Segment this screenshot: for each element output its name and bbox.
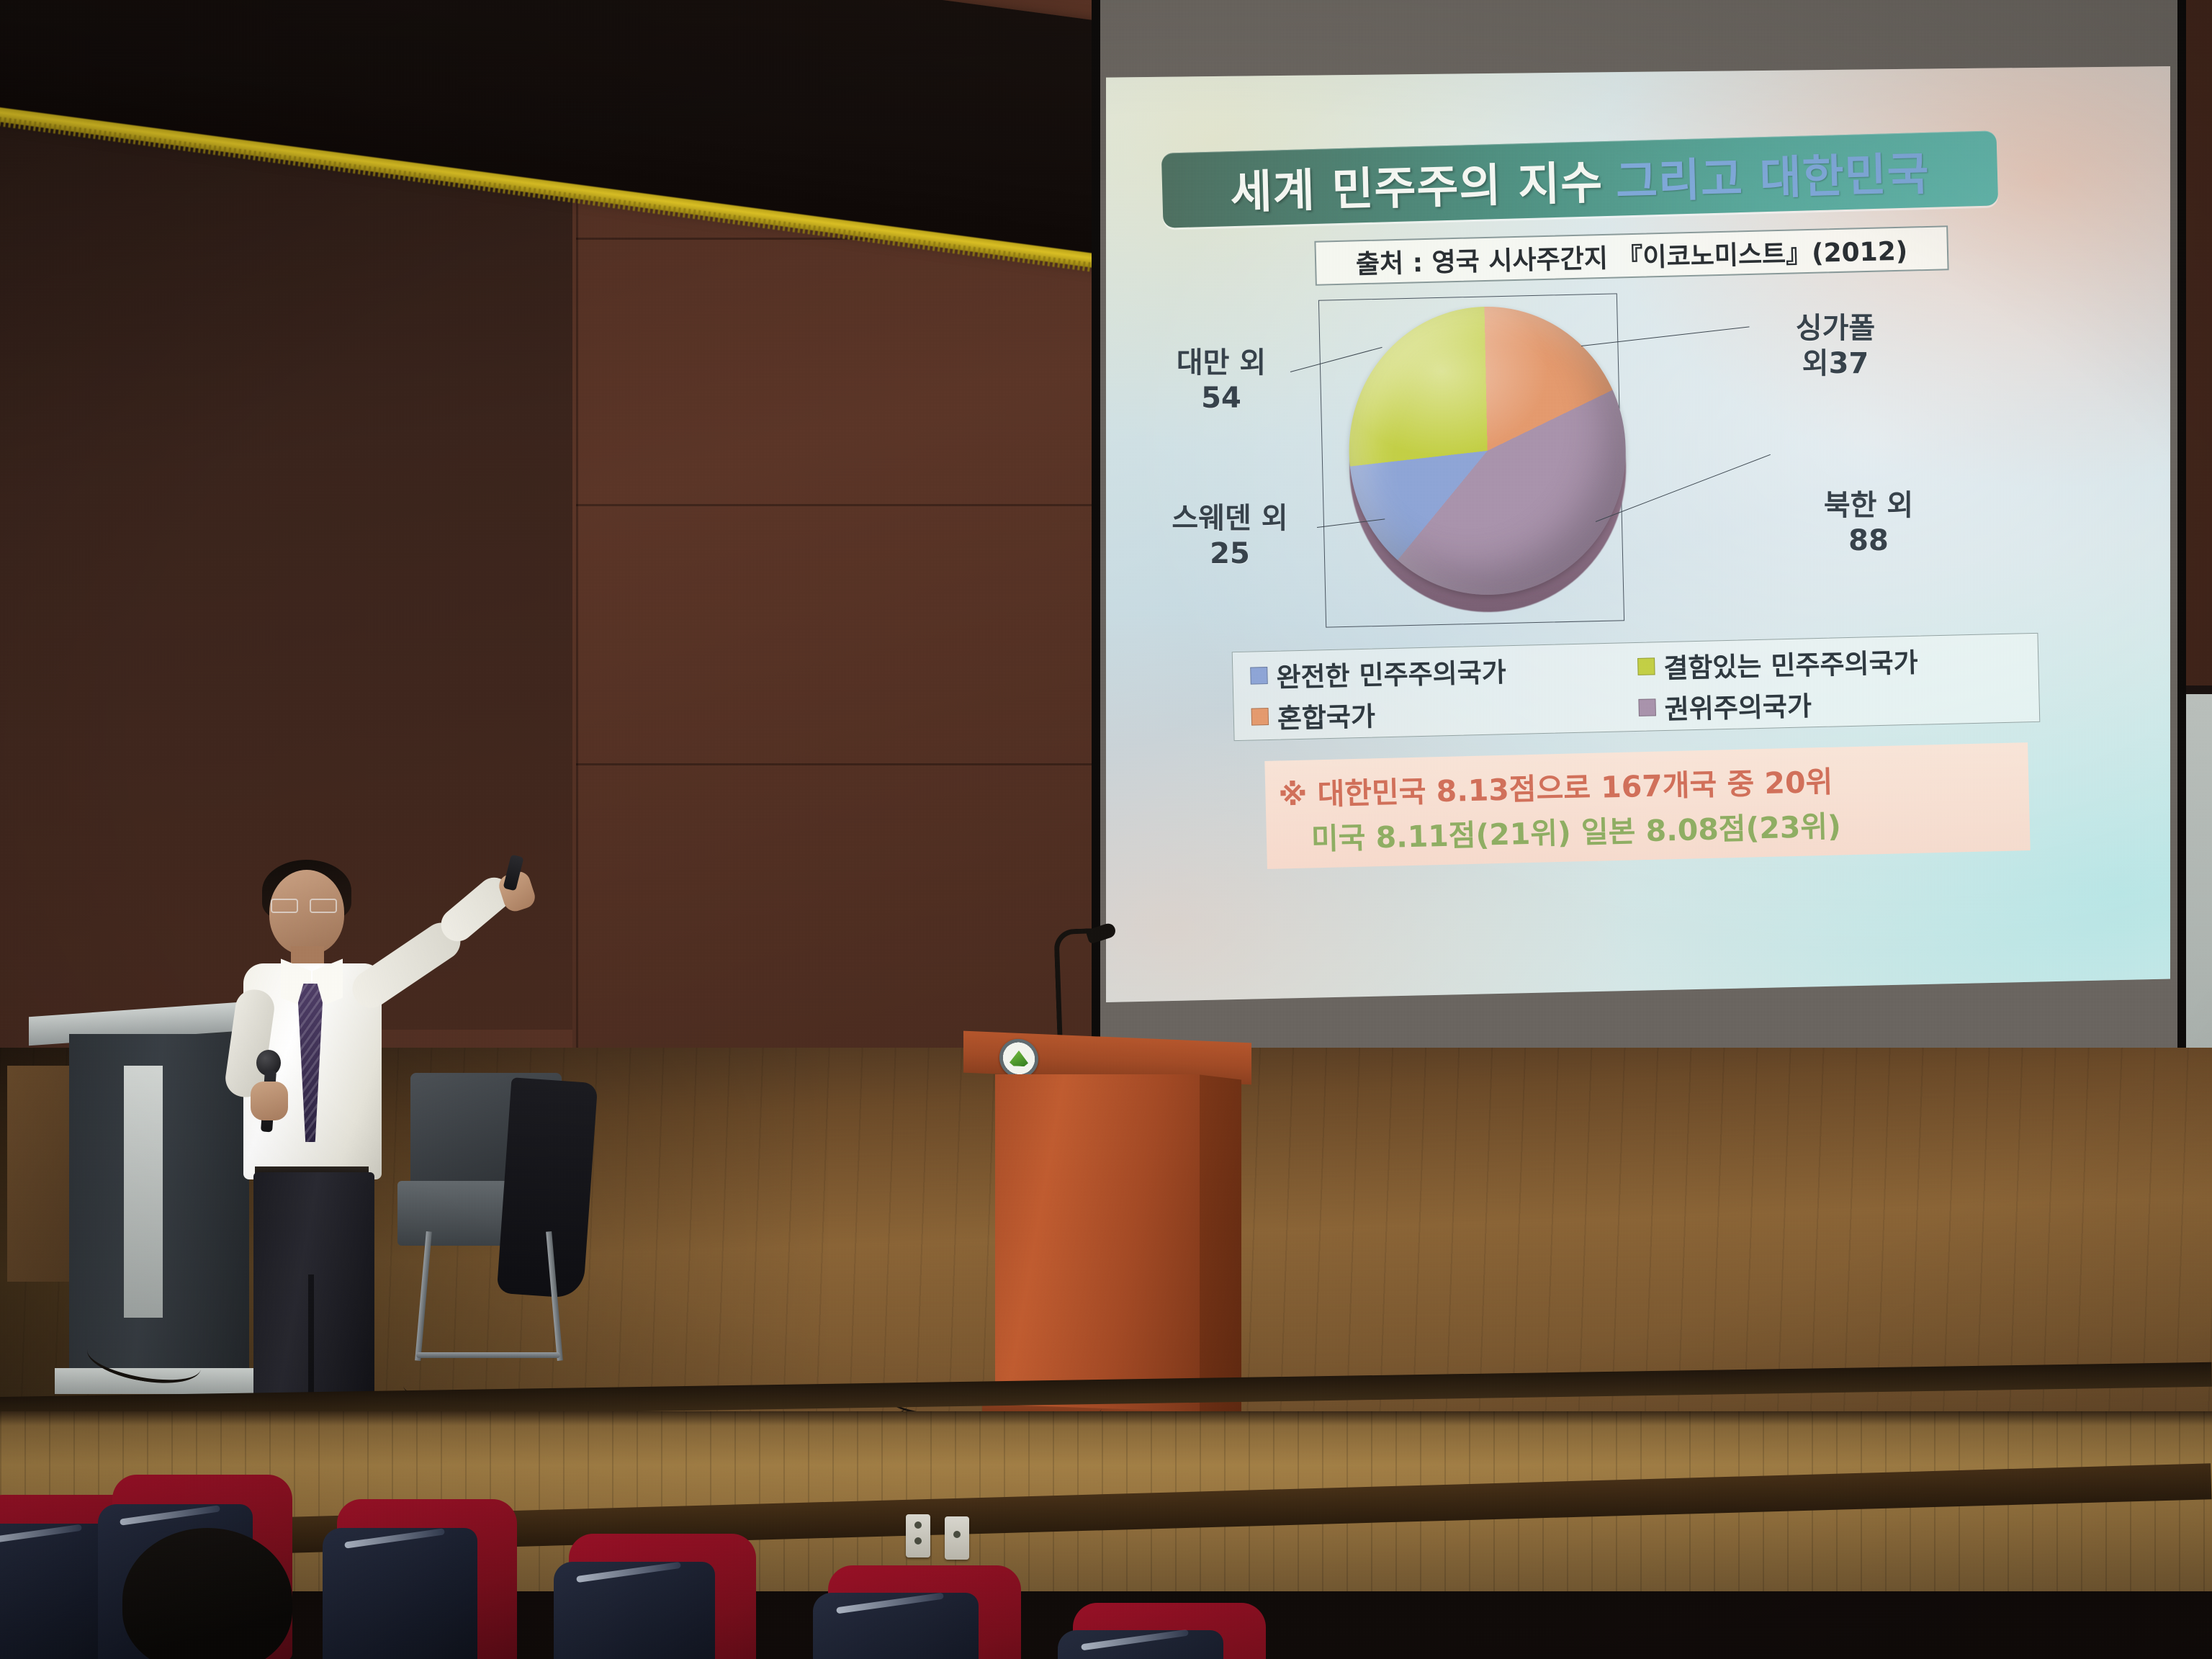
legend-label-full-democracy: 완전한 민주주의국가 [1276,650,1506,695]
trouser-seam [308,1274,314,1411]
auditorium-seat [569,1534,756,1659]
pie-chart [1340,292,1635,631]
callout-singapore-value: 외37 [1754,346,1917,382]
legend-label-hybrid: 혼합국가 [1277,694,1375,735]
wall-seam [576,504,1102,506]
legend-label-flawed-democracy: 결함있는 민주주의국가 [1663,640,1918,685]
legend-item-authoritarian: 권위주의국가 [1638,679,2026,727]
presenter-trousers [253,1172,374,1410]
callout-sweden: 스웨덴 외 25 [1141,501,1319,572]
legend-item-flawed-democracy: 결함있는 민주주의국가 [1637,638,2026,686]
legend-swatch-hybrid [1251,708,1269,726]
podium-body [995,1074,1202,1413]
callout-northkorea-value: 88 [1783,523,1954,559]
audience-seating [0,1469,1274,1659]
legend-label-authoritarian: 권위주의국가 [1664,684,1812,727]
podium-side [1200,1074,1241,1418]
callout-sweden-value: 25 [1141,536,1319,572]
slide-title-main: 세계 민주주의 지수 [1229,146,1604,222]
callout-daeman: 대만 외 54 [1149,346,1293,416]
legend-item-full-democracy: 완전한 민주주의국가 [1250,647,1638,695]
slide-source-box: 출처 : 영국 시사주간지 『이코노미스트』(2012) [1314,225,1948,285]
legend-swatch-full-democracy [1250,667,1268,685]
legend-item-hybrid: 혼합국가 [1251,688,1639,736]
callout-northkorea: 북한 외 88 [1783,488,1954,559]
chart-legend: 완전한 민주주의국가 결함있는 민주주의국가 혼합국가 권위주의국가 [1232,633,2041,741]
callout-sweden-name: 스웨덴 외 [1141,501,1319,536]
auditorium-seat [828,1565,1021,1659]
institution-emblem [999,1038,1038,1079]
auditorium-seat [337,1499,517,1659]
callout-singapore-name: 싱가폴 [1754,311,1917,346]
glasses-icon [271,899,337,910]
emblem-leaf-icon [1010,1050,1028,1066]
presenter [229,857,531,1419]
legend-swatch-authoritarian [1638,698,1656,716]
auditorium-seat [1073,1603,1266,1659]
callout-singapore: 싱가폴 외37 [1754,311,1917,382]
slide-title-bar: 세계 민주주의 지수 그리고 대한민국 [1161,130,1998,228]
projection-screen: 세계 민주주의 지수 그리고 대한민국 출처 : 영국 시사주간지 『이코노미스… [1100,0,2177,1074]
lectern-accent-stripe [124,1066,163,1318]
wall-seam [576,763,1102,765]
gooseneck-microphone [1053,928,1101,1045]
callout-daeman-value: 54 [1149,381,1293,416]
callout-daeman-name: 대만 외 [1149,346,1293,381]
slide-note-box: ※ 대한민국 8.13점으로 167개국 중 20위 미국 8.11점(21위)… [1264,742,2030,869]
slide-title-accent: 그리고 대한민국 [1615,137,1930,211]
legend-swatch-flawed-democracy [1637,657,1655,675]
presentation-slide: 세계 민주주의 지수 그리고 대한민국 출처 : 영국 시사주간지 『이코노미스… [1106,66,2170,1002]
presenter-left-hand [251,1082,288,1120]
lecture-hall-scene: 세계 민주주의 지수 그리고 대한민국 출처 : 영국 시사주간지 『이코노미스… [0,0,2212,1659]
callout-northkorea-name: 북한 외 [1783,488,1954,523]
slide-source-text: 출처 : 영국 시사주간지 『이코노미스트』(2012) [1355,230,1907,282]
